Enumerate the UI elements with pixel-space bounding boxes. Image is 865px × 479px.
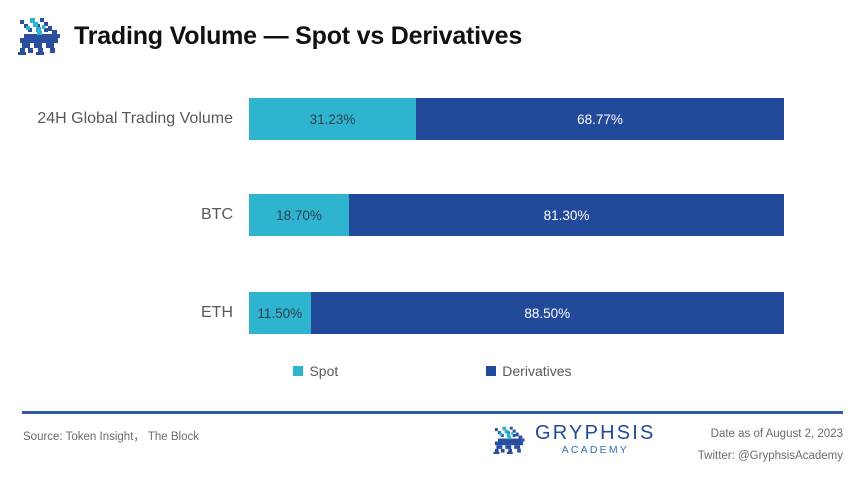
bar-track-global: 31.23% 68.77% [249, 98, 784, 140]
bar-value-derivatives-btc: 81.30% [544, 208, 590, 223]
bar-segment-derivatives-eth[interactable]: 88.50% [311, 292, 784, 334]
chart-legend: Spot Derivatives [0, 358, 865, 384]
bar-track-btc: 18.70% 81.30% [249, 194, 784, 236]
page-title: Trading Volume — Spot vs Derivatives [74, 22, 522, 51]
bar-value-derivatives-global: 68.77% [577, 112, 623, 127]
legend-item-spot[interactable]: Spot [293, 363, 338, 379]
bar-segment-spot-global[interactable]: 31.23% [249, 98, 416, 140]
footer-date: Date as of August 2, 2023 [698, 424, 843, 446]
bar-segment-spot-btc[interactable]: 18.70% [249, 194, 349, 236]
bar-row-btc: BTC 18.70% 81.30% [0, 194, 865, 236]
bar-row-global: 24H Global Trading Volume 31.23% 68.77% [0, 98, 865, 140]
legend-swatch-spot-icon [293, 366, 303, 376]
legend-swatch-derivatives-icon [486, 366, 496, 376]
gryphsis-griffin-logo-icon [12, 12, 66, 60]
gryphsis-griffin-logo-icon [489, 422, 529, 458]
bar-row-label-eth: ETH [0, 304, 249, 322]
bar-value-spot-btc: 18.70% [276, 208, 322, 223]
legend-item-derivatives[interactable]: Derivatives [486, 363, 571, 379]
bar-segment-spot-eth[interactable]: 11.50% [249, 292, 311, 334]
brand-name: GRYPHSIS [535, 423, 656, 444]
bar-value-spot-global: 31.23% [310, 112, 356, 127]
bar-value-spot-eth: 11.50% [257, 306, 302, 321]
legend-label-spot: Spot [309, 363, 338, 379]
legend-label-derivatives: Derivatives [502, 363, 571, 379]
brand-subtitle: ACADEMY [562, 444, 629, 457]
footer-source-text: Source: Token Insight， The Block [23, 428, 199, 444]
bar-row-label-global: 24H Global Trading Volume [0, 110, 249, 128]
chart-page: Trading Volume — Spot vs Derivatives 24H… [0, 0, 865, 479]
footer-meta: Date as of August 2, 2023 Twitter: @Gryp… [698, 424, 843, 468]
chart-header: Trading Volume — Spot vs Derivatives [0, 0, 865, 72]
bar-segment-derivatives-global[interactable]: 68.77% [416, 98, 784, 140]
footer-brand: GRYPHSIS ACADEMY [489, 422, 656, 458]
footer-wordmark: GRYPHSIS ACADEMY [535, 423, 656, 457]
chart-plot-area: 24H Global Trading Volume 31.23% 68.77% … [0, 72, 865, 344]
bar-value-derivatives-eth: 88.50% [524, 306, 570, 321]
bar-row-label-btc: BTC [0, 206, 249, 224]
footer-twitter: Twitter: @GryphsisAcademy [698, 446, 843, 468]
bar-row-eth: ETH 11.50% 88.50% [0, 292, 865, 334]
bar-track-eth: 11.50% 88.50% [249, 292, 784, 334]
bar-segment-derivatives-btc[interactable]: 81.30% [349, 194, 784, 236]
chart-footer: Source: Token Insight， The Block [0, 414, 865, 479]
